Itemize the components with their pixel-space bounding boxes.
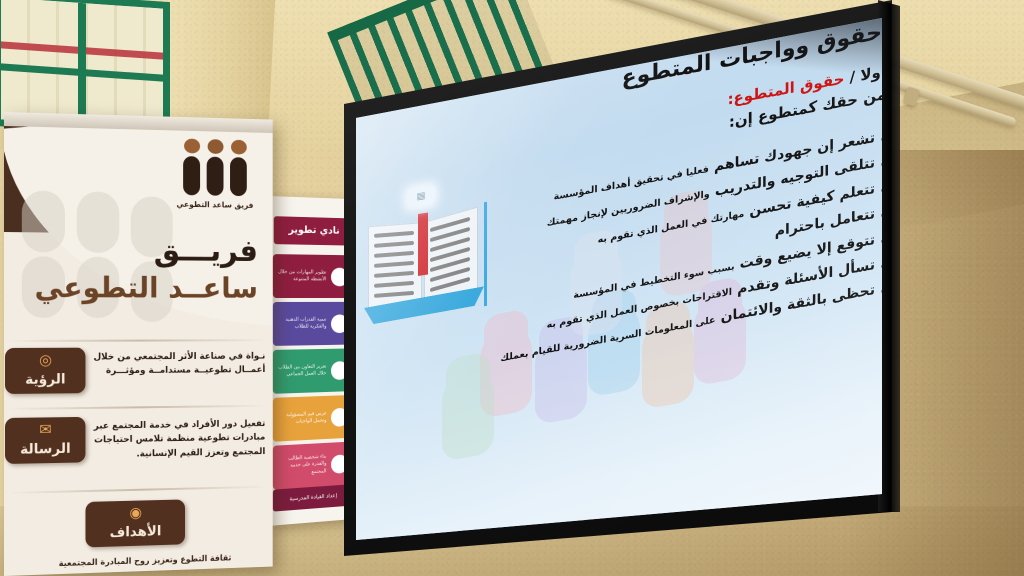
- hand-silhouette: [442, 366, 494, 461]
- banner-divider: [8, 405, 268, 410]
- envelope-icon: ✉: [9, 422, 82, 438]
- banner-vision-block: ◎ الرؤية نـواة في صناعة الأثر المجتمعي م…: [5, 347, 265, 394]
- banner-divider: [8, 339, 268, 342]
- slide-content: ▤ حقوق وواجبات المتطوع أولا / حقوق المتط…: [330, 0, 910, 560]
- slide-accent-line: [484, 202, 487, 307]
- banner-logo-caption: فريق ساعد التطوعي: [170, 200, 260, 210]
- banner-logo: فريق ساعد التطوعي: [170, 138, 260, 210]
- banner-vision-pill: ◎ الرؤية: [5, 348, 85, 394]
- poster-band-text: تطوير المهارات من خلال الأنشطة المتنوعة: [273, 269, 327, 284]
- banner-mission-pill: ✉ الرسالة: [5, 417, 85, 464]
- volunteer-team-rollup-banner: فريق ساعد التطوعي فريـــق ساعــد التطوعي…: [4, 112, 273, 576]
- wall-mounted-flat-screen-tv: ▤ حقوق وواجبات المتطوع أولا / حقوق المتط…: [330, 0, 910, 576]
- banner-mission-text: تفعيل دور الأفراد في خدمة المجتمع عبر مب…: [92, 414, 265, 462]
- poster-band-text: غرس قيم المسؤولية وتحمل الواجبات: [273, 410, 327, 427]
- banner-goals-pill: ◉ الأهداف: [85, 499, 185, 547]
- book-page-left: [368, 222, 422, 310]
- poster-band-text: بناء شخصية الطالب والقدرة على خدمة المجت…: [273, 453, 327, 479]
- banner-mission-label: الرسالة: [20, 441, 71, 458]
- banner-goals-text: ثقافة التطوع وتعزيز روح المبادرة المجتمع…: [25, 551, 264, 569]
- window-vertical-mullion: [78, 3, 86, 126]
- three-people-icon: [170, 138, 260, 196]
- open-book-illustration: ▤: [366, 199, 482, 336]
- bookmark-icon: ▤: [408, 185, 434, 208]
- banner-divider: [8, 486, 268, 494]
- banner-title-line2: ساعــد التطوعي: [19, 269, 258, 306]
- book-bookmark: [418, 213, 428, 276]
- photo-scene: نادي تطوير الطيور تطوير المهارات من خلال…: [0, 0, 1024, 576]
- banner-title: فريـــق ساعــد التطوعي: [19, 230, 258, 305]
- banner-goals-block: ◉ الأهداف: [78, 499, 193, 547]
- poster-band-text: تعزيز التعاون بين الطلاب خلال العمل الجم…: [273, 363, 327, 379]
- banner-goals-label: الأهداف: [110, 523, 162, 540]
- presentation-slide: ▤ حقوق وواجبات المتطوع أولا / حقوق المتط…: [330, 0, 910, 560]
- banner-vision-text: نـواة في صناعة الأثر المجتمعي من خلال أع…: [92, 347, 265, 379]
- slide-rights-list: ١. تشعر إن جهودك تساهم فعليا في تحقيق أه…: [494, 125, 894, 375]
- banner-vision-label: الرؤية: [25, 372, 65, 388]
- eye-icon: ◎: [9, 353, 82, 368]
- target-icon: ◉: [89, 504, 181, 521]
- banner-title-line1: فريـــق: [19, 230, 258, 270]
- tv-screen: ▤ حقوق وواجبات المتطوع أولا / حقوق المتط…: [330, 0, 910, 560]
- banner-mission-block: ✉ الرسالة تفعيل دور الأفراد في خدمة المج…: [5, 414, 265, 464]
- poster-band-text: تنمية القدرات الذهنية والفكرية للطلاب: [273, 316, 327, 331]
